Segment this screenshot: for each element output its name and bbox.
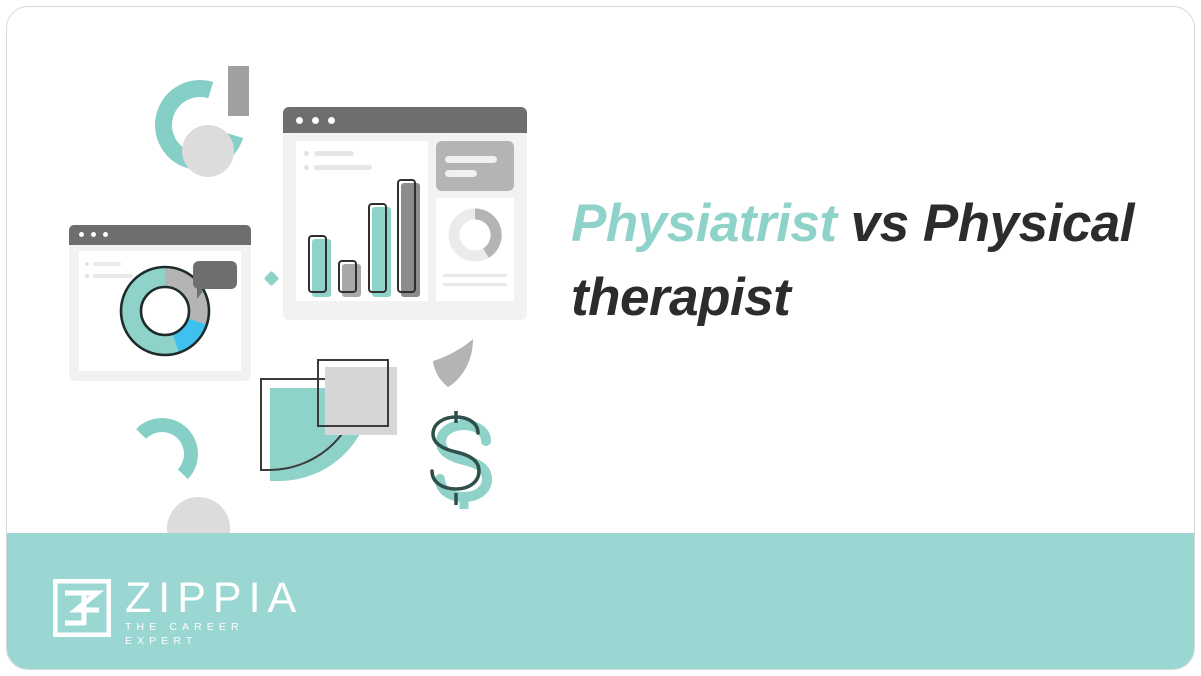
legend-marker-icon (85, 274, 89, 278)
legend-label-placeholder (314, 165, 372, 170)
legend-marker-icon (304, 165, 309, 170)
window-dot-2-icon (91, 232, 96, 237)
window-dot-2-icon (312, 117, 319, 124)
window-title-bar (283, 107, 527, 133)
side-panel (436, 141, 514, 301)
browser-window-donut (69, 225, 251, 381)
donut-card (436, 198, 514, 301)
window-dot-1-icon (296, 117, 303, 124)
window-body (296, 141, 514, 303)
chart-bar (338, 260, 357, 293)
window-body (79, 251, 241, 371)
gray-circle-small-icon (182, 125, 234, 177)
bar-chart-panel (296, 141, 428, 301)
window-dot-3-icon (103, 232, 108, 237)
gray-petal-svg (432, 339, 478, 387)
chart-bar-outline (308, 235, 327, 293)
chart-tooltip-tail-icon (197, 285, 203, 299)
chart-bar-outline (338, 260, 357, 293)
gray-square-shape (317, 359, 402, 439)
zippia-tagline: THE CAREER EXPERT (125, 620, 315, 648)
page-title: Physiatrist vs Physical therapist (571, 187, 1171, 335)
square-outline (317, 359, 389, 427)
summary-card-line (445, 156, 497, 163)
zippia-logo-mark-icon (53, 579, 111, 637)
summary-card (436, 141, 514, 191)
legend-marker-icon (304, 151, 309, 156)
chart-bar-outline (368, 203, 387, 293)
teal-quarter-arc-icon (125, 417, 198, 490)
chart-bar (368, 203, 387, 293)
legend-row (304, 151, 354, 156)
window-dot-1-icon (79, 232, 84, 237)
window-dot-3-icon (328, 117, 335, 124)
chart-bar (397, 179, 416, 293)
dollar-sign-svg (416, 411, 512, 517)
donut-card-line (443, 283, 507, 286)
dollar-sign-icon (416, 411, 512, 517)
legend-label-placeholder (314, 151, 354, 156)
zippia-wordmark: ZIPPIA (125, 575, 315, 621)
summary-card-line (445, 170, 477, 177)
legend-row (304, 165, 372, 170)
gray-petal-icon (432, 339, 478, 387)
page-title-accent: Physiatrist (571, 194, 837, 253)
legend-marker-icon (85, 262, 89, 266)
chart-bar-outline (397, 179, 416, 293)
promo-card: Physiatrist vs Physical therapist ZIPPIA… (6, 6, 1195, 670)
zippia-logo-text: ZIPPIA THE CAREER EXPERT (125, 575, 315, 648)
teal-diamond-icon (264, 271, 280, 287)
window-title-bar (69, 225, 251, 245)
chart-bar (308, 235, 327, 293)
gray-rect-tall-icon (228, 66, 249, 116)
browser-window-chart (283, 107, 527, 320)
zippia-logo[interactable]: ZIPPIA THE CAREER EXPERT (53, 573, 313, 643)
donut-chart-icon (436, 202, 514, 268)
donut-card-line (443, 274, 507, 277)
